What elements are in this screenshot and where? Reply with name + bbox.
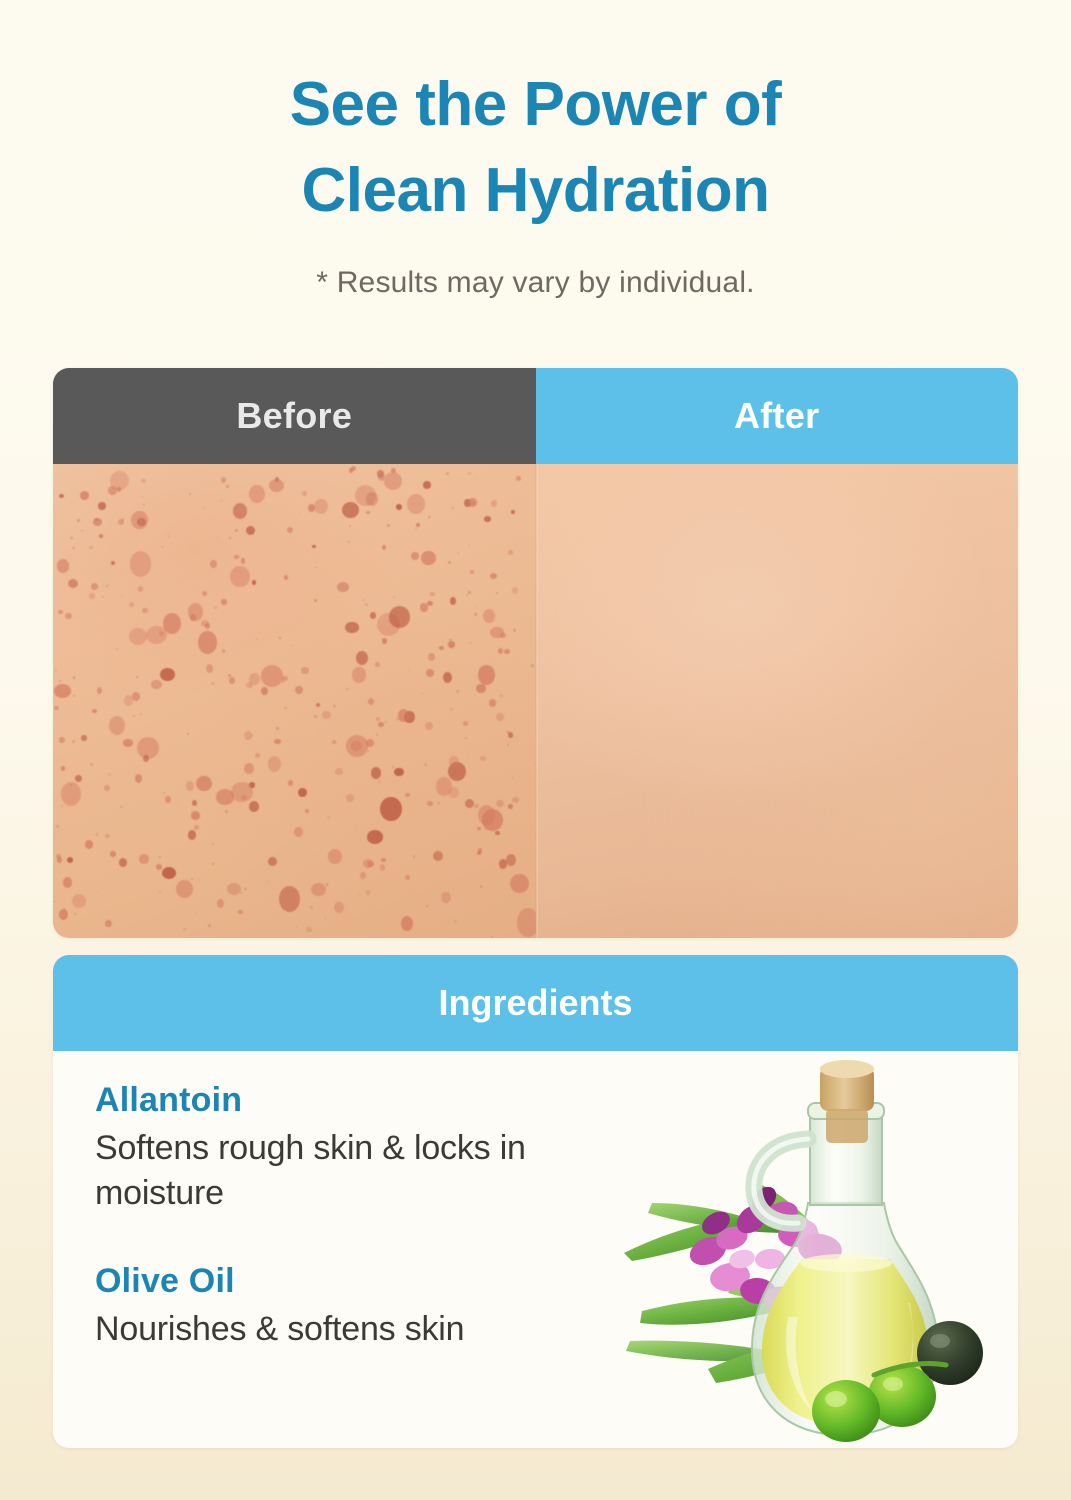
skin-blemish	[89, 593, 94, 599]
skin-blemish	[427, 801, 432, 806]
skin-blemish	[511, 510, 515, 514]
skin-pore	[277, 854, 279, 856]
page-title-line1: See the Power of	[290, 70, 782, 139]
skin-blemish	[401, 916, 413, 931]
skin-blemish	[405, 793, 410, 798]
skin-blemish	[334, 902, 344, 913]
skin-blemish	[238, 910, 242, 915]
skin-pore	[97, 892, 99, 894]
skin-pore	[415, 528, 417, 530]
skin-blemish	[311, 883, 327, 896]
skin-blemish	[274, 739, 281, 745]
skin-blemish	[105, 920, 112, 928]
skin-pore	[421, 693, 423, 695]
skin-blemish	[165, 796, 172, 803]
skin-blemish	[196, 776, 212, 792]
skin-pore	[298, 513, 300, 515]
skin-blemish	[205, 623, 211, 629]
skin-blemish	[328, 849, 342, 863]
skin-blemish	[57, 559, 69, 572]
skin-pore	[337, 742, 338, 743]
skin-blemish	[337, 582, 349, 592]
skin-pore	[168, 532, 169, 533]
skin-pore	[507, 744, 509, 746]
skin-blemish	[367, 830, 383, 843]
skin-blemish	[192, 800, 197, 806]
skin-pore	[90, 763, 92, 765]
skin-pore	[333, 705, 335, 707]
skin-pore	[189, 493, 191, 495]
skin-blemish	[194, 825, 199, 831]
skin-pore	[385, 721, 387, 723]
skin-pore	[244, 888, 246, 890]
skin-pore	[470, 642, 472, 644]
skin-blemish	[104, 785, 110, 791]
skin-blemish	[68, 579, 78, 589]
skin-blemish	[367, 861, 374, 867]
skin-pore	[475, 607, 476, 608]
skin-blemish	[176, 880, 193, 898]
skin-pore	[256, 638, 259, 641]
skin-blemish	[346, 735, 368, 757]
skin-pore	[194, 689, 195, 690]
skin-pore	[452, 507, 454, 509]
skin-pore	[491, 936, 494, 938]
skin-blemish	[129, 602, 134, 607]
skin-pore	[435, 857, 436, 858]
skin-pore	[376, 733, 378, 735]
skin-blemish	[160, 668, 175, 681]
skin-pore	[367, 750, 370, 753]
skin-blemish	[351, 466, 356, 471]
skin-pore	[163, 792, 165, 794]
skin-pore	[468, 545, 469, 546]
skin-blemish	[186, 781, 194, 791]
skin-pore	[396, 718, 399, 721]
skin-blemish	[141, 479, 145, 484]
skin-blemish	[483, 609, 495, 623]
skin-pore	[212, 843, 214, 845]
skin-blemish	[322, 711, 331, 719]
skin-blemish	[295, 686, 303, 695]
skin-pore	[346, 688, 349, 691]
skin-pore	[428, 516, 431, 519]
skin-blemish	[98, 502, 105, 510]
ingredient-description: Softens rough skin & locks in moisture	[95, 1126, 655, 1216]
skin-pore	[359, 894, 360, 895]
skin-blemish	[316, 703, 320, 707]
skin-pore	[211, 682, 214, 685]
skin-blemish	[371, 767, 381, 779]
ingredients-list: Allantoin Softens rough skin & locks in …	[95, 1081, 655, 1352]
skin-pore	[390, 546, 391, 547]
ingredient-description: Nourishes & softens skin	[95, 1307, 655, 1352]
skin-pore	[222, 649, 225, 652]
skin-pore	[282, 680, 285, 683]
skin-pore	[292, 645, 294, 647]
skin-blemish	[335, 768, 343, 775]
skin-pore	[183, 928, 186, 931]
skin-blemish	[312, 545, 316, 549]
skin-pore	[514, 623, 516, 625]
skin-blemish	[132, 692, 140, 701]
skin-pore	[453, 771, 456, 774]
skin-pore	[348, 541, 350, 543]
skin-pore	[466, 594, 468, 596]
skin-pore	[327, 816, 330, 819]
skin-blemish	[255, 753, 260, 759]
skin-pore	[315, 567, 317, 569]
skin-blemish	[119, 858, 127, 867]
skin-pore	[480, 885, 482, 887]
skin-pore	[456, 690, 459, 693]
skin-pore	[389, 620, 391, 622]
skin-blemish	[425, 722, 433, 730]
skin-blemish	[198, 631, 217, 654]
skin-blemish	[287, 527, 293, 533]
skin-blemish	[54, 706, 59, 711]
skin-blemish	[130, 551, 152, 576]
skin-pore	[448, 561, 451, 564]
skin-pore	[276, 727, 279, 730]
skin-pore	[106, 585, 108, 587]
skin-blemish	[269, 479, 284, 492]
before-label: Before	[53, 368, 536, 464]
skin-blemish	[420, 603, 427, 612]
skin-pore	[96, 833, 99, 836]
skin-blemish	[72, 894, 86, 908]
skin-pore	[59, 680, 61, 682]
skin-blemish	[490, 573, 497, 579]
skin-pore	[314, 715, 317, 718]
skin-blemish	[229, 677, 235, 683]
skin-blemish	[298, 788, 306, 797]
skin-pore	[475, 478, 476, 479]
skin-blemish	[81, 735, 86, 741]
skin-blemish	[67, 857, 74, 863]
skin-pore	[268, 880, 269, 881]
skin-pore	[240, 892, 242, 894]
skin-pore	[513, 629, 516, 632]
list-item: Allantoin Softens rough skin & locks in …	[95, 1081, 655, 1216]
skin-pore	[325, 917, 327, 919]
skin-blemish	[302, 491, 307, 496]
skin-pore	[251, 735, 252, 736]
skin-pore	[55, 669, 57, 671]
skin-blemish	[389, 606, 410, 628]
skin-pore	[95, 518, 98, 521]
skin-pore	[373, 811, 374, 812]
skin-blemish	[360, 872, 366, 879]
skin-blemish	[294, 827, 303, 837]
skin-pore	[355, 828, 356, 829]
skin-pore	[187, 733, 189, 735]
skin-blemish	[480, 756, 486, 761]
skin-pore	[450, 708, 453, 711]
page-title: See the Power of Clean Hydration	[156, 74, 916, 222]
skin-pore	[392, 766, 395, 769]
skin-blemish	[504, 649, 510, 655]
skin-pore	[140, 713, 142, 715]
skin-blemish	[496, 713, 504, 721]
after-label: After	[536, 368, 1019, 464]
skin-blemish	[436, 777, 451, 795]
skin-pore	[117, 667, 118, 668]
skin-pore	[74, 913, 76, 915]
skin-blemish	[443, 672, 452, 683]
skin-blemish	[162, 867, 176, 879]
skin-pore	[54, 897, 55, 898]
skin-blemish	[268, 756, 281, 772]
skin-pore	[468, 472, 471, 475]
skin-blemish	[517, 908, 536, 936]
skin-pore	[400, 799, 401, 800]
skin-pore	[424, 763, 427, 766]
skin-pore	[314, 599, 317, 602]
skin-pore	[214, 606, 217, 609]
skin-pore	[73, 676, 76, 679]
skin-pore	[77, 519, 80, 522]
skin-blemish	[474, 804, 478, 808]
skin-blemish	[284, 575, 288, 580]
skin-blemish	[59, 494, 64, 498]
skin-blemish	[202, 591, 207, 596]
skin-blemish	[288, 780, 293, 786]
skin-blemish	[92, 709, 97, 713]
skin-blemish	[346, 794, 354, 802]
skin-blemish	[496, 800, 504, 807]
skin-pore	[473, 502, 475, 504]
skin-blemish	[376, 717, 380, 721]
skin-pore	[159, 856, 162, 859]
skin-pore	[226, 485, 229, 488]
skin-blemish	[249, 673, 260, 685]
skin-pore	[318, 730, 319, 731]
skin-blemish	[139, 854, 149, 864]
skin-pore	[61, 548, 62, 549]
skin-blemish	[382, 545, 386, 550]
ingredients-card: Ingredients Allantoin Softens rough skin…	[53, 955, 1018, 1448]
skin-blemish	[91, 583, 98, 590]
skin-blemish	[227, 883, 241, 895]
after-skin-photo	[536, 464, 1019, 938]
skin-pore	[326, 883, 328, 885]
skin-blemish	[396, 504, 402, 511]
skin-pore	[136, 676, 138, 678]
results-disclaimer: * Results may vary by individual.	[0, 266, 1071, 300]
skin-blemish	[332, 740, 336, 744]
before-after-header: Before After	[53, 368, 1018, 464]
skin-pore	[218, 537, 219, 538]
skin-pore	[409, 669, 410, 670]
photo-seam	[535, 464, 538, 938]
skin-blemish	[476, 684, 485, 693]
skin-blemish	[384, 472, 402, 490]
skin-blemish	[135, 774, 142, 783]
skin-pore	[512, 777, 515, 780]
skin-blemish	[111, 561, 115, 565]
ingredient-name: Olive Oil	[95, 1262, 655, 1301]
skin-pore	[496, 592, 498, 594]
before-skin-photo	[53, 464, 536, 938]
skin-pore	[108, 584, 109, 585]
ingredients-section-title: Ingredients	[53, 955, 1018, 1051]
skin-blemish	[58, 610, 63, 614]
skin-blemish	[508, 732, 513, 737]
skin-blemish	[477, 827, 481, 831]
skin-blemish	[143, 755, 148, 761]
skin-pore	[199, 817, 200, 818]
skin-pore	[484, 827, 486, 829]
skin-pore	[465, 737, 467, 739]
skin-blemish	[430, 592, 434, 596]
skin-blemish	[191, 811, 200, 820]
skin-pore	[531, 664, 534, 667]
skin-blemish	[411, 552, 419, 560]
skin-blemish	[477, 851, 481, 855]
skin-pore	[310, 906, 313, 909]
skin-pore	[446, 472, 449, 475]
skin-pore	[72, 740, 75, 743]
skin-pore	[162, 546, 164, 548]
before-after-card: Before After	[53, 368, 1018, 938]
skin-blemish	[85, 840, 92, 848]
skin-blemish	[470, 570, 474, 574]
skin-blemish	[110, 471, 128, 490]
skin-blemish	[366, 492, 378, 505]
skin-blemish	[465, 799, 474, 808]
skin-blemish	[308, 504, 315, 512]
skin-pore	[142, 496, 143, 497]
skin-pore	[70, 537, 73, 540]
skin-pore	[279, 637, 281, 639]
skin-blemish	[301, 667, 308, 673]
skin-blemish	[59, 737, 65, 743]
skin-pore	[393, 596, 395, 598]
skin-blemish	[75, 775, 82, 782]
skin-blemish	[421, 551, 436, 566]
skin-blemish	[244, 763, 254, 773]
skin-pore	[73, 695, 75, 697]
skin-blemish	[216, 789, 233, 805]
skin-blemish	[381, 858, 387, 863]
before-after-images	[53, 464, 1018, 938]
skin-blemish	[416, 523, 420, 527]
skin-blemish	[426, 669, 434, 678]
skin-blemish	[375, 662, 380, 667]
skin-pore	[196, 912, 197, 913]
skin-pore	[81, 530, 83, 532]
skin-pore	[177, 805, 179, 807]
skin-pore	[221, 500, 222, 501]
skin-blemish	[241, 558, 245, 563]
skin-blemish	[478, 665, 495, 686]
skin-blemish	[366, 890, 370, 895]
page-title-line2: Clean Hydration	[156, 160, 916, 222]
skin-pore	[212, 863, 214, 865]
skin-pore	[204, 508, 205, 509]
skin-pore	[363, 599, 365, 601]
skin-blemish	[234, 555, 238, 559]
skin-pore	[121, 595, 122, 596]
skin-pore	[108, 773, 111, 776]
skin-blemish	[261, 665, 283, 687]
skin-pore	[284, 707, 287, 710]
skin-blemish	[380, 864, 386, 871]
skin-pore	[365, 603, 368, 606]
skin-blemish	[490, 627, 504, 639]
skin-blemish	[123, 739, 133, 747]
ingredient-name: Allantoin	[95, 1081, 655, 1120]
skin-pore	[349, 525, 351, 527]
skin-pore	[529, 812, 530, 813]
skin-blemish	[151, 680, 162, 690]
skin-blemish	[380, 797, 402, 821]
skin-pore	[235, 529, 238, 532]
skin-blemish	[105, 834, 109, 838]
skin-pore	[208, 924, 211, 927]
skin-blemish	[221, 599, 227, 605]
skin-pore	[112, 580, 113, 581]
skin-blemish	[489, 699, 496, 706]
skin-blemish	[484, 516, 491, 522]
skin-pore	[426, 905, 428, 907]
skin-blemish	[99, 534, 103, 538]
skin-blemish	[54, 684, 71, 698]
skin-blemish	[405, 875, 410, 880]
skin-pore	[191, 878, 193, 880]
skin-blemish	[516, 476, 521, 481]
skin-blemish	[230, 566, 250, 588]
skin-blemish	[61, 766, 66, 771]
skin-blemish	[306, 927, 311, 933]
skin-blemish	[510, 874, 528, 893]
skin-pore	[454, 920, 457, 923]
skin-blemish	[188, 830, 196, 840]
skin-blemish	[241, 795, 247, 800]
skin-blemish	[59, 909, 68, 920]
skin-pore	[143, 504, 145, 506]
skin-pore	[468, 758, 469, 759]
skin-pore	[500, 694, 503, 697]
skin-blemish	[506, 854, 517, 866]
skin-pore	[413, 855, 416, 858]
skin-blemish	[378, 722, 384, 727]
skin-blemish	[268, 857, 278, 866]
skin-pore	[228, 674, 231, 677]
skin-pore	[348, 808, 349, 809]
skin-pore	[364, 669, 365, 670]
skin-blemish	[508, 804, 513, 809]
list-item: Olive Oil Nourishes & softens skin	[95, 1262, 655, 1352]
skin-blemish	[249, 801, 260, 812]
skin-pore	[378, 780, 380, 782]
skin-blemish	[56, 854, 61, 859]
skin-pore	[113, 857, 115, 859]
skin-pore	[314, 855, 315, 856]
skin-blemish	[427, 601, 433, 606]
skin-pore	[229, 537, 231, 539]
skin-blemish	[382, 638, 387, 643]
skin-blemish	[491, 500, 497, 507]
skin-blemish	[279, 886, 300, 912]
skin-pore	[61, 805, 63, 807]
skin-blemish	[428, 653, 434, 661]
skin-blemish	[448, 641, 456, 648]
skin-pore	[56, 825, 59, 828]
skin-blemish	[233, 503, 247, 519]
skin-blemish	[356, 651, 368, 665]
